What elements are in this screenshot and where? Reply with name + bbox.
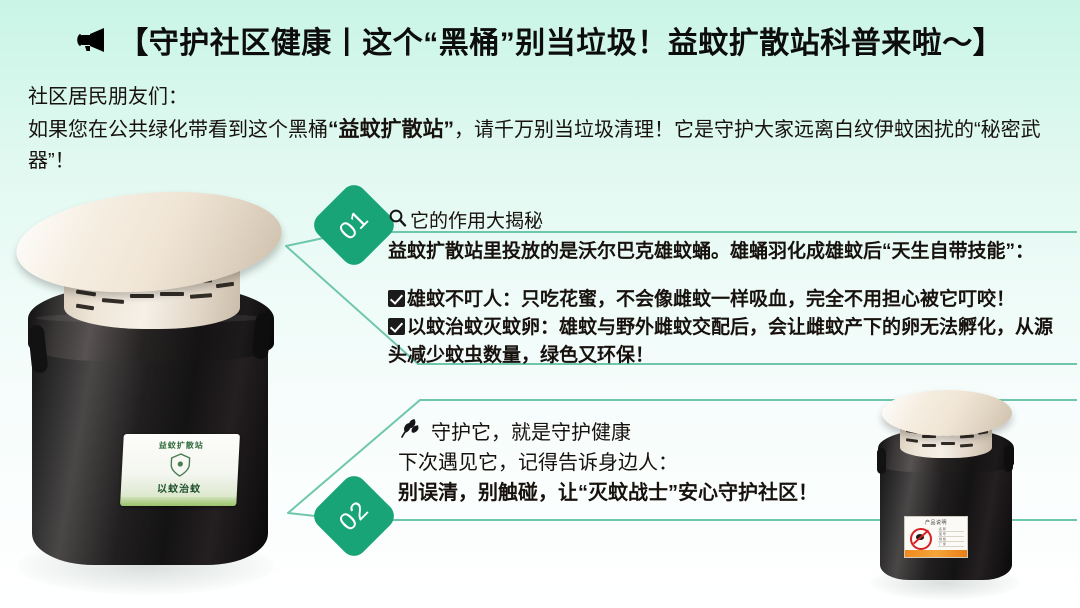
section-01-bullet-2-text: 以蚊治蚊灭蚊卵：雄蚊与野外雌蚊交配后，会让雌蚊产下的卵无法孵化，从源头减少蚊虫数… xyxy=(388,317,1053,366)
mosquito-glyph xyxy=(916,534,924,540)
section-02-heading: 守护它，就是守护健康 xyxy=(431,419,631,447)
main-bucket-label-panel: 益蚊扩散站 以蚊治蚊 xyxy=(120,434,240,506)
section-01: 它的作用大揭秘 益蚊扩散站里投放的是沃尔巴克雄蚊蛹。雄蛹羽化成雄蚊后“天生自带技… xyxy=(388,208,1068,370)
small-bucket-label-rows: 名 称 型 号 规 格 厂 家 xyxy=(938,527,964,547)
small-bucket-label-row: 厂 家 xyxy=(938,542,964,547)
small-bucket-handle-lug-left xyxy=(877,448,886,474)
section-01-bullets: 雄蚊不叮人：只吃花蜜，不会像雌蚊一样吸血，完全不用担心被它叮咬！ 以蚊治蚊灭蚊卵… xyxy=(388,286,1068,370)
small-bucket-handle-lug-right xyxy=(1004,446,1013,472)
section-badge-01-label: 01 xyxy=(309,180,400,271)
page-title: 【守护社区健康丨这个“黑桶”别当垃圾！益蚊扩散站科普来啦～】 xyxy=(118,18,1003,62)
small-bucket-label-title: 产品说明 xyxy=(905,519,967,526)
intro-body: 如果您在公共绿化带看到这个黑桶“益蚊扩散站”，请千万别当垃圾清理！它是守护大家远… xyxy=(28,114,1058,177)
section-01-bullet-1: 雄蚊不叮人：只吃花蜜，不会像雌蚊一样吸血，完全不用担心被它叮咬！ xyxy=(388,286,1068,314)
shield-icon xyxy=(167,452,194,478)
small-bucket-photo: 产品说明 名 称 型 号 规 格 厂 家 xyxy=(862,388,1034,608)
check-icon xyxy=(388,290,405,307)
main-bucket-photo: 益蚊扩散站 以蚊治蚊 xyxy=(6,185,302,600)
poster-header: 【守护社区健康丨这个“黑桶”别当垃圾！益蚊扩散站科普来啦～】 xyxy=(0,18,1080,62)
leaf-icon xyxy=(398,418,421,448)
intro-body-highlight: “益蚊扩散站” xyxy=(328,118,454,141)
section-01-bullet-2: 以蚊治蚊灭蚊卵：雄蚊与野外雌蚊交配后，会让雌蚊产下的卵无法孵化，从源头减少蚊虫数… xyxy=(388,314,1068,370)
main-bucket-cap xyxy=(12,182,286,303)
intro-body-part1: 如果您在公共绿化带看到这个黑桶 xyxy=(28,119,328,141)
small-bucket-label-orange-bar xyxy=(905,550,967,557)
section-01-bullet-1-text: 雄蚊不叮人：只吃花蜜，不会像雌蚊一样吸血，完全不用担心被它叮咬！ xyxy=(407,289,1015,310)
intro-block: 社区居民朋友们： 如果您在公共绿化带看到这个黑桶“益蚊扩散站”，请千万别当垃圾清… xyxy=(28,82,1058,177)
section-02-line-1: 下次遇见它，记得告诉身边人： xyxy=(398,448,918,478)
section-01-subheading: 益蚊扩散站里投放的是沃尔巴克雄蚊蛹。雄蛹羽化成雄蚊后“天生自带技能”： xyxy=(388,237,1068,266)
main-bucket-label-bottom-text: 以蚊治蚊 xyxy=(121,480,238,495)
small-bucket-label: 产品说明 名 称 型 号 规 格 厂 家 xyxy=(904,516,968,558)
magnifier-icon xyxy=(388,208,407,235)
poster-canvas: 【守护社区健康丨这个“黑桶”别当垃圾！益蚊扩散站科普来啦～】 社区居民朋友们： … xyxy=(0,0,1080,608)
main-bucket-label-grass xyxy=(120,497,237,506)
megaphone-icon xyxy=(77,27,111,58)
main-bucket-handle-lug-right xyxy=(252,312,273,359)
section-01-heading: 它的作用大揭秘 xyxy=(410,209,543,235)
intro-salutation: 社区居民朋友们： xyxy=(28,82,1058,112)
section-02-heading-row: 守护它，就是守护健康 xyxy=(398,418,918,448)
main-bucket-label-top-text: 益蚊扩散站 xyxy=(123,440,240,451)
check-icon xyxy=(388,318,405,335)
section-02-line-2: 别误清，别触碰，让“灭蚊战士”安心守护社区！ xyxy=(398,478,918,508)
section-01-heading-row: 它的作用大揭秘 xyxy=(388,208,1068,235)
section-02: 守护它，就是守护健康 下次遇见它，记得告诉身边人： 别误清，别触碰，让“灭蚊战士… xyxy=(398,418,918,508)
small-bucket-cap xyxy=(882,390,1012,436)
no-mosquito-icon xyxy=(910,528,932,550)
section-badge-02-label: 02 xyxy=(309,471,400,562)
